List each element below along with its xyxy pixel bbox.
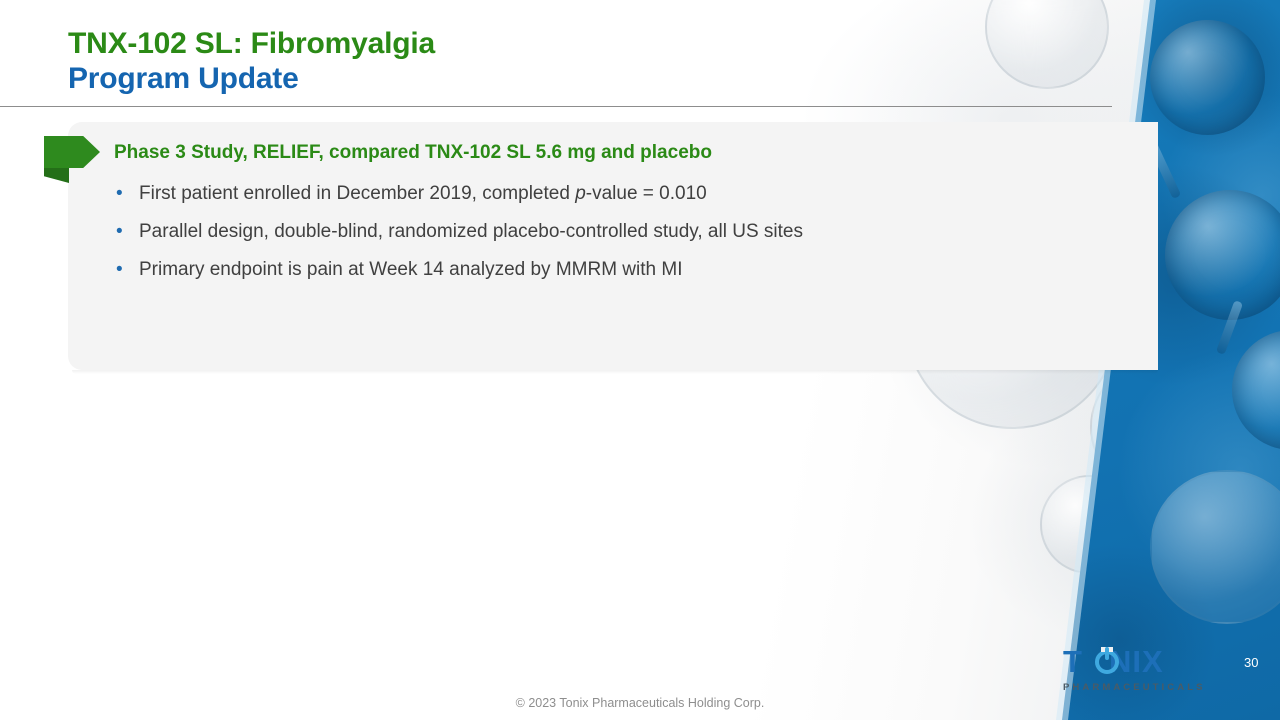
bullet-text-pre: Primary endpoint is pain at Week 14 anal… xyxy=(139,259,682,280)
logo-letter-t: T xyxy=(1063,644,1082,679)
power-icon-stem xyxy=(1105,647,1109,660)
bullet-dot-icon: • xyxy=(113,257,139,283)
logo-wordmark: TNIX xyxy=(1063,646,1213,677)
list-item: • Parallel design, double-blind, randomi… xyxy=(113,219,1073,245)
green-arrow-icon xyxy=(44,136,100,168)
tonix-logo: TNIX PHARMACEUTICALS xyxy=(1063,646,1213,694)
bullet-text-pre: Parallel design, double-blind, randomize… xyxy=(139,221,803,242)
title-line-primary: TNX-102 SL: Fibromyalgia xyxy=(68,28,435,60)
list-item: • First patient enrolled in December 201… xyxy=(113,181,1073,207)
bullet-text: Primary endpoint is pain at Week 14 anal… xyxy=(139,257,682,283)
bullet-text-post: -value = 0.010 xyxy=(586,183,707,204)
list-item: • Primary endpoint is pain at Week 14 an… xyxy=(113,257,1073,283)
bullet-text: Parallel design, double-blind, randomize… xyxy=(139,219,803,245)
page-number: 30 xyxy=(1244,655,1258,670)
arrow-body-shape xyxy=(44,136,100,168)
title-divider-rule xyxy=(0,106,1112,107)
bullet-dot-icon: • xyxy=(113,181,139,207)
bullet-text-pre: First patient enrolled in December 2019,… xyxy=(139,183,575,204)
glassware-blue-bulb xyxy=(1150,470,1280,624)
bullet-text: First patient enrolled in December 2019,… xyxy=(139,181,707,207)
title-line-secondary: Program Update xyxy=(68,63,435,95)
bullet-dot-icon: • xyxy=(113,219,139,245)
molecule-atom-3 xyxy=(1232,330,1280,450)
bullet-list: • First patient enrolled in December 201… xyxy=(113,181,1073,295)
slide-canvas: TNX-102 SL: Fibromyalgia Program Update … xyxy=(0,0,1280,720)
molecule-atom-1 xyxy=(1150,20,1265,135)
page-title: TNX-102 SL: Fibromyalgia Program Update xyxy=(68,28,435,95)
bullet-text-italic: p xyxy=(575,183,586,204)
section-heading: Phase 3 Study, RELIEF, compared TNX-102 … xyxy=(114,142,712,164)
logo-tagline: PHARMACEUTICALS xyxy=(1063,682,1213,693)
power-button-icon xyxy=(1094,647,1122,675)
molecule-atom-2 xyxy=(1165,190,1280,320)
copyright-footer: © 2023 Tonix Pharmaceuticals Holding Cor… xyxy=(0,696,1280,710)
